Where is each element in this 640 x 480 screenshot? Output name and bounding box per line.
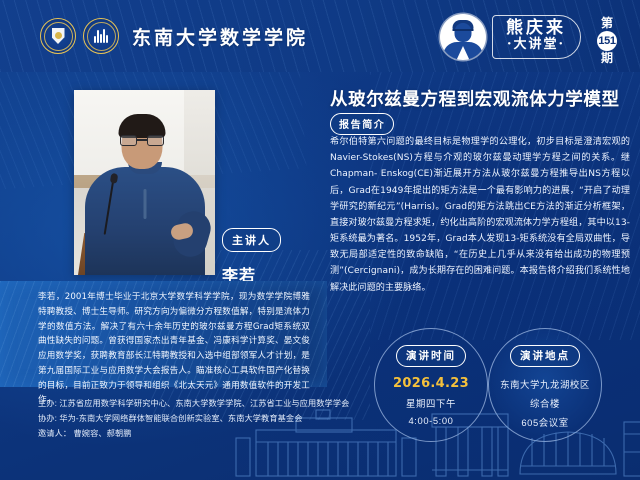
place-badge: 演讲地点 [510, 345, 580, 367]
speaker-photo [74, 90, 215, 275]
lecture-poster: 东南大学数学学院 熊庆来 ·大讲堂· 第 151 期 [0, 0, 640, 480]
lecture-date: 2026.4.23 [393, 376, 469, 391]
issue-number: 151 [597, 31, 617, 51]
brand-line-2: ·大讲堂· [507, 37, 565, 54]
speaker-bio-band: 李若，2001年博士毕业于北京大学数学科学学院，现为数学学院博雅特聘教授、博士生… [0, 281, 327, 387]
university-branding: 东南大学数学学院 [40, 18, 308, 54]
abstract-badge-wrap: 报告简介 [330, 113, 394, 135]
lecture-title: 从玻尔兹曼方程到宏观流体力学模型 [330, 86, 630, 111]
speaker-bio-text: 李若，2001年博士毕业于北京大学数学科学学院，现为数学学院博雅特聘教授、博士生… [38, 290, 310, 408]
university-name: 东南大学数学学院 [132, 23, 308, 50]
seu-shield-seal-icon [40, 18, 76, 54]
xiong-qinglai-portrait-icon [440, 14, 486, 60]
brand-name-box: 熊庆来 ·大讲堂· [492, 15, 581, 60]
lecture-abstract: 希尔伯特第六问题的最终目标是物理学的公理化，初步目标是澄清宏观的Navier-S… [330, 134, 630, 296]
abstract-badge: 报告简介 [330, 113, 394, 135]
campus-skyline-silhouette-icon [220, 408, 640, 480]
lecture-series-brand: 熊庆来 ·大讲堂· [440, 14, 581, 60]
poster-header: 东南大学数学学院 熊庆来 ·大讲堂· 第 151 期 [0, 0, 640, 72]
brand-line-1: 熊庆来 [506, 19, 566, 38]
seu-wave-seal-icon [83, 18, 119, 54]
issue-prefix: 第 [601, 17, 613, 30]
time-badge: 演讲时间 [396, 345, 466, 367]
speaker-role-badge: 主讲人 [222, 228, 281, 252]
place-campus: 东南大学九龙湖校区 [500, 377, 590, 391]
issue-suffix: 期 [601, 52, 613, 65]
issue-number-badge: 第 151 期 [592, 17, 622, 65]
